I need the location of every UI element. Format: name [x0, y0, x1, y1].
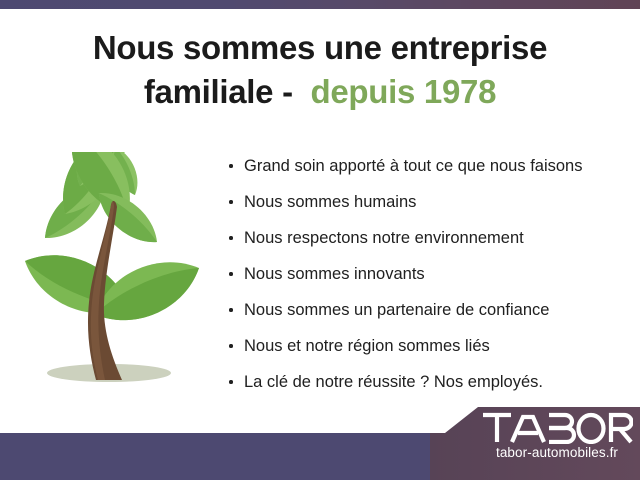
headline-line-1: Nous sommes une entreprise	[93, 29, 547, 66]
list-item-label: Nous sommes un partenaire de confiance	[244, 301, 549, 319]
slide-root: Nous sommes une entreprise familiale - d…	[0, 0, 640, 480]
tree-illustration	[12, 152, 217, 387]
list-item: Nous respectons notre environnement	[226, 220, 626, 256]
value-proposition-list: Grand soin apporté à tout ce que nous fa…	[226, 148, 626, 400]
brand-logo[interactable]: tabor-automobiles.fr	[478, 411, 636, 473]
list-item-label: Nous respectons notre environnement	[244, 229, 524, 247]
list-item: Grand soin apporté à tout ce que nous fa…	[226, 148, 626, 184]
list-item-label: Nous et notre région sommes liés	[244, 337, 490, 355]
headline-line-2: familiale - depuis 1978	[0, 70, 640, 114]
headline-line-2-prefix: familiale -	[144, 73, 311, 110]
logo-tagline: tabor-automobiles.fr	[478, 445, 636, 460]
list-item-label: Nous sommes innovants	[244, 265, 425, 283]
list-item-label: Grand soin apporté à tout ce que nous fa…	[244, 157, 582, 175]
list-item: Nous sommes un partenaire de confiance	[226, 292, 626, 328]
list-item: La clé de notre réussite ? Nos employés.	[226, 364, 626, 400]
top-accent-bar	[0, 0, 640, 9]
page-title: Nous sommes une entreprise familiale - d…	[0, 26, 640, 114]
footer-left-bar	[0, 433, 470, 480]
list-item: Nous et notre région sommes liés	[226, 328, 626, 364]
tabor-wordmark-icon	[481, 411, 633, 444]
list-item-label: Nous sommes humains	[244, 193, 416, 211]
headline-accent-year: depuis 1978	[311, 73, 497, 110]
list-item: Nous sommes innovants	[226, 256, 626, 292]
list-item: Nous sommes humains	[226, 184, 626, 220]
list-item-label: La clé de notre réussite ? Nos employés.	[244, 373, 543, 391]
